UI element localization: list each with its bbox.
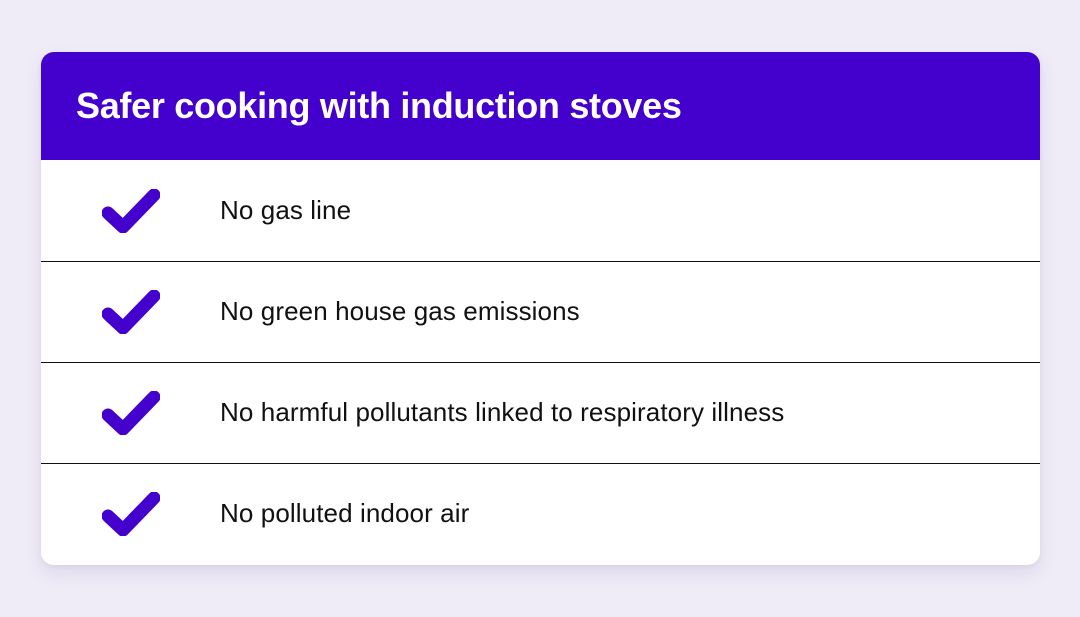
page-title: Safer cooking with induction stoves [76, 86, 682, 126]
list-item: No gas line [41, 160, 1040, 261]
check-cell [41, 492, 220, 536]
check-cell [41, 391, 220, 435]
list-item-label: No harmful pollutants linked to respirat… [220, 397, 784, 428]
check-icon [102, 189, 160, 233]
card-header: Safer cooking with induction stoves [41, 52, 1040, 160]
list-item-label: No green house gas emissions [220, 296, 580, 327]
list-item-label: No polluted indoor air [220, 498, 469, 529]
list-item-label: No gas line [220, 195, 351, 226]
check-icon [102, 290, 160, 334]
check-icon [102, 492, 160, 536]
check-cell [41, 290, 220, 334]
check-icon [102, 391, 160, 435]
list-item: No polluted indoor air [41, 463, 1040, 564]
page-root: Safer cooking with induction stoves No g… [0, 0, 1080, 617]
check-cell [41, 189, 220, 233]
list-item: No green house gas emissions [41, 261, 1040, 362]
benefits-card: Safer cooking with induction stoves No g… [41, 52, 1040, 565]
benefits-list: No gas line No green house gas emissions… [41, 160, 1040, 564]
list-item: No harmful pollutants linked to respirat… [41, 362, 1040, 463]
